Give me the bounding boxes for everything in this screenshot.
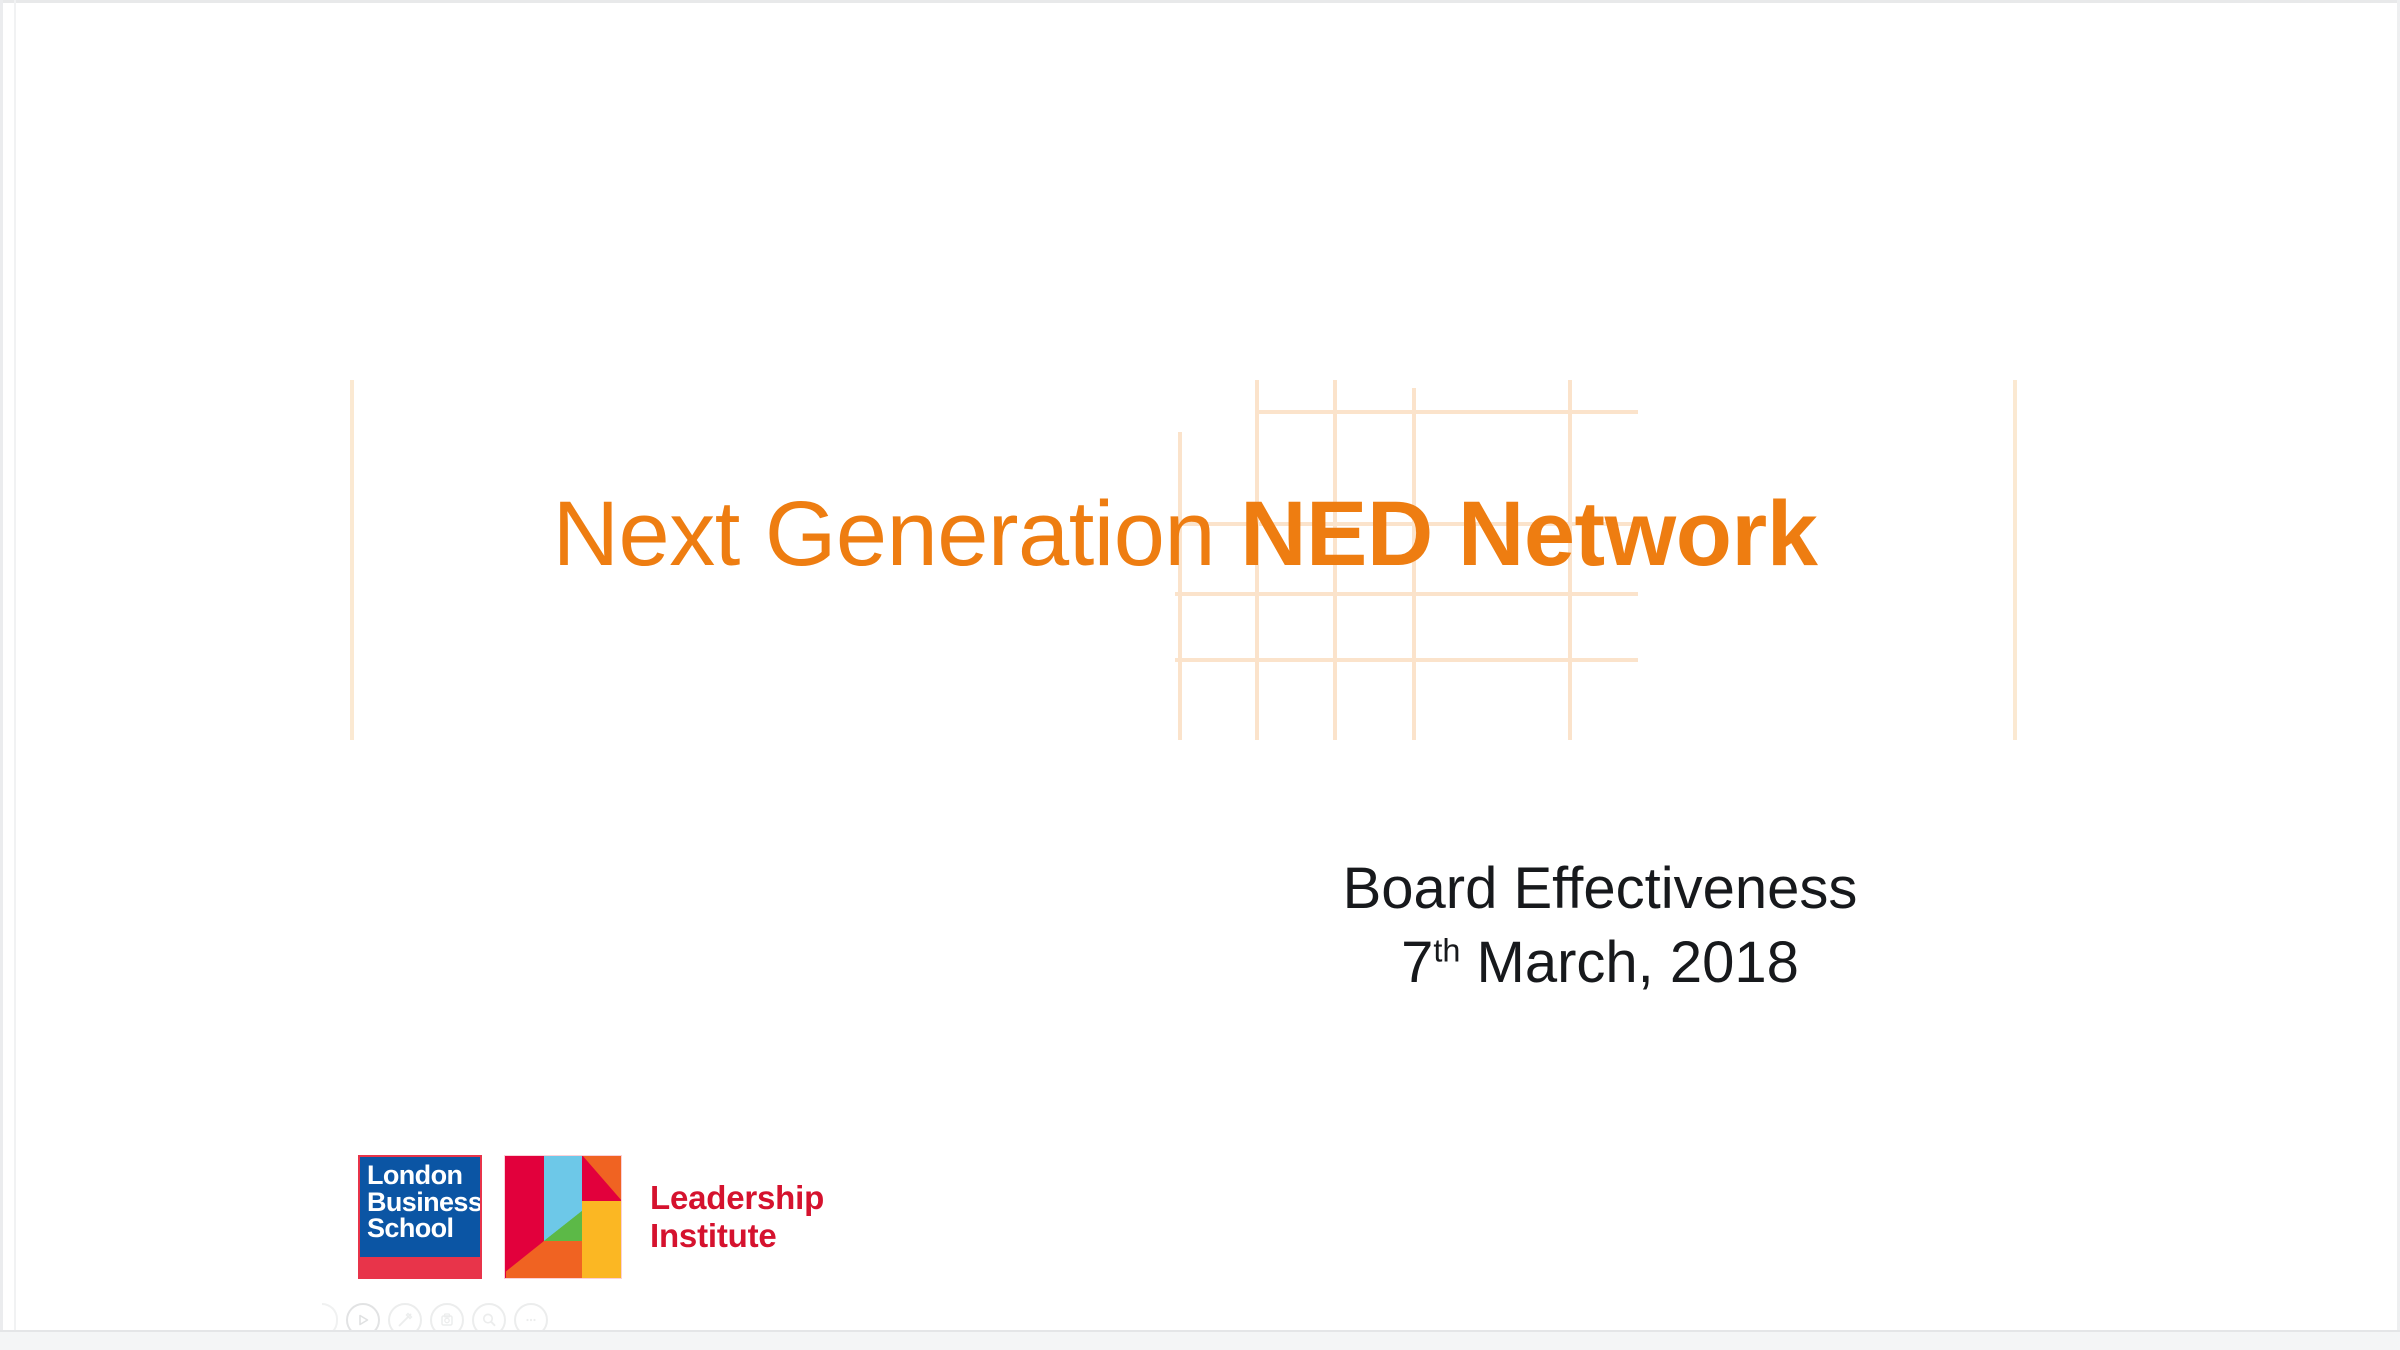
lbs-line-2: Business [367,1189,482,1216]
grid-line-horizontal-3 [1175,658,1638,662]
subtitle-date: 7th March, 2018 [1180,929,2020,997]
date-ordinal-suffix: th [1433,933,1460,969]
london-business-school-logo: London Business School [358,1155,482,1279]
subtitle-block: Board Effectiveness 7th March, 2018 [1180,855,2020,998]
screenshot-icon [438,1311,456,1329]
pen-icon [396,1311,414,1329]
grid-line-horizontal-0 [1255,410,1638,414]
li-line-2: Institute [650,1217,824,1255]
slide-viewport: Next Generation NED Network Board Effect… [0,0,2400,1350]
frame-edge-bottom [0,1330,2400,1350]
lbs-line-3: School [367,1215,482,1242]
magnifier-icon [480,1311,498,1329]
lbs-red-bar [360,1257,480,1277]
title-light-text: Next Generation [553,483,1240,585]
subtitle-topic: Board Effectiveness [1343,856,1858,921]
lbs-line-1: London [367,1162,482,1189]
leadership-institute-glyph [504,1155,622,1279]
leadership-institute-wordmark: Leadership Institute [650,1179,824,1254]
grid-line-vertical-0 [1178,432,1182,740]
date-month-year: March, 2018 [1460,930,1799,995]
slide-title: Next Generation NED Network [350,488,2020,580]
li-line-1: Leadership [650,1179,824,1217]
leadership-institute-mark [504,1155,622,1279]
frame-edge-top [0,0,2400,3]
lbs-wordmark: London Business School [367,1162,482,1242]
ellipsis-icon [522,1311,540,1329]
date-day-number: 7 [1401,930,1433,995]
play-icon [355,1312,371,1328]
title-bold-text: NED Network [1240,483,1817,585]
grid-line-horizontal-2 [1175,592,1638,596]
logo-row: London Business School [358,1155,824,1279]
